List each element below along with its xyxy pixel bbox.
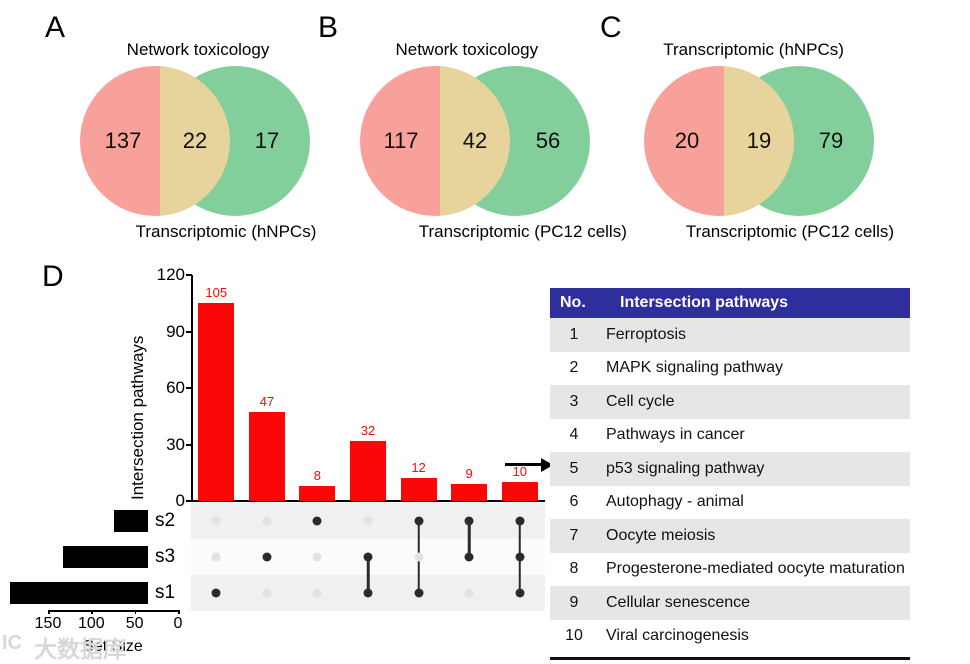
set-size-tick (91, 610, 93, 614)
bar[interactable] (198, 303, 234, 501)
table-cell-no: 8 (550, 560, 598, 578)
bar-value-label: 8 (314, 468, 321, 483)
venn-b-overlap-count: 42 (463, 128, 487, 154)
table-cell-no: 9 (550, 594, 598, 612)
set-size-bar-s2[interactable] (114, 510, 148, 532)
bar[interactable] (451, 484, 487, 501)
table-row[interactable]: 4Pathways in cancer (550, 419, 910, 453)
intersection-pathways-table: No. Intersection pathways 1Ferroptosis2M… (550, 288, 910, 660)
y-tick-label: 30 (130, 435, 185, 455)
set-size-tick (135, 610, 137, 614)
venn-a-overlap-count: 22 (183, 128, 207, 154)
table-body: 1Ferroptosis2MAPK signaling pathway3Cell… (550, 318, 910, 653)
venn-c-title-bottom: Transcriptomic (PC12 cells) (686, 222, 894, 242)
matrix-dot-s1-on[interactable] (364, 589, 373, 598)
table-cell-pathway: MAPK signaling pathway (598, 359, 910, 377)
table-row[interactable]: 7Oocyte meiosis (550, 519, 910, 553)
table-cell-pathway: Cellular senescence (598, 594, 910, 612)
set-size-axis-line (48, 610, 178, 612)
matrix-dot-s3-on[interactable] (515, 553, 524, 562)
set-size-axis-title: Set Size (83, 638, 143, 656)
bar[interactable] (350, 441, 386, 501)
table-row[interactable]: 1Ferroptosis (550, 318, 910, 352)
bar-value-label: 47 (260, 394, 274, 409)
set-size-bar-s3[interactable] (63, 546, 148, 568)
matrix-dot-s2-on[interactable] (465, 517, 474, 526)
venn-diagram-c: Transcriptomic (hNPCs) 20 19 79 Transcri… (622, 40, 902, 240)
bar-value-label: 12 (411, 460, 425, 475)
bar-value-label: 9 (466, 466, 473, 481)
venn-c-title-top: Transcriptomic (hNPCs) (663, 40, 844, 60)
venn-b-right-count: 56 (536, 128, 560, 154)
pointer-arrow-line (505, 463, 541, 466)
venn-c-left-count: 20 (675, 128, 699, 154)
set-size-tick-label: 150 (35, 615, 62, 633)
table-cell-no: 2 (550, 359, 598, 377)
bar-value-label: 10 (512, 464, 526, 479)
panel-letter-b: B (318, 13, 338, 43)
table-cell-pathway: p53 signaling pathway (598, 460, 910, 478)
matrix-dot-s3-on[interactable] (364, 553, 373, 562)
set-label-s2: s2 (155, 510, 175, 532)
matrix-dot-s1-on[interactable] (212, 589, 221, 598)
matrix-dot-s1-on[interactable] (414, 589, 423, 598)
set-size-tick (178, 610, 180, 614)
matrix-dot-s3-on[interactable] (465, 553, 474, 562)
venn-a-title-top: Network toxicology (127, 40, 270, 60)
table-cell-pathway: Cell cycle (598, 393, 910, 411)
table-cell-no: 5 (550, 460, 598, 478)
table-header-no: No. (550, 294, 608, 312)
set-size-bar-s1[interactable] (10, 582, 148, 604)
venn-diagram-b: Network toxicology 117 42 56 Transcripto… (338, 40, 618, 240)
upset-plot: Intersection pathways 0306090120 1054783… (0, 265, 560, 660)
table-cell-no: 4 (550, 426, 598, 444)
venn-c-overlap-count: 19 (747, 128, 771, 154)
panel-letter-c: C (600, 13, 622, 43)
table-cell-no: 7 (550, 527, 598, 545)
table-header-row: No. Intersection pathways (550, 288, 910, 318)
table-cell-pathway: Viral carcinogenesis (598, 627, 910, 645)
matrix-dot-s2-off[interactable] (364, 517, 373, 526)
matrix-dot-s3-on[interactable] (262, 553, 271, 562)
y-tick-label: 0 (130, 491, 185, 511)
venn-a-right-count: 17 (255, 128, 279, 154)
table-cell-pathway: Oocyte meiosis (598, 527, 910, 545)
venn-a-title-bottom: Transcriptomic (hNPCs) (136, 222, 317, 242)
matrix-dot-s3-off[interactable] (313, 553, 322, 562)
y-tick-label: 60 (130, 378, 185, 398)
venn-a-left-count: 137 (105, 128, 142, 154)
table-cell-no: 3 (550, 393, 598, 411)
matrix-dot-s1-on[interactable] (515, 589, 524, 598)
matrix-dot-s2-off[interactable] (262, 517, 271, 526)
table-cell-no: 6 (550, 493, 598, 511)
matrix-dot-s1-off[interactable] (313, 589, 322, 598)
bar-series: 1054783212910 (191, 275, 545, 501)
set-label-s1: s1 (155, 582, 175, 604)
bar-value-label: 105 (205, 285, 227, 300)
set-label-s3: s3 (155, 546, 175, 568)
table-row[interactable]: 5p53 signaling pathway (550, 452, 910, 486)
table-cell-no: 10 (550, 627, 598, 645)
venn-b-left-count: 117 (383, 128, 418, 154)
table-cell-pathway: Pathways in cancer (598, 426, 910, 444)
venn-b-title-top: Network toxicology (395, 40, 538, 60)
table-cell-pathway: Autophagy - animal (598, 493, 910, 511)
table-row[interactable]: 10Viral carcinogenesis (550, 620, 910, 654)
table-row[interactable]: 8Progesterone-mediated oocyte maturation (550, 553, 910, 587)
bar[interactable] (502, 482, 538, 501)
table-row[interactable]: 6Autophagy - animal (550, 486, 910, 520)
set-size-tick-label: 0 (174, 615, 183, 633)
venn-b-title-bottom: Transcriptomic (PC12 cells) (419, 222, 627, 242)
set-size-tick (48, 610, 50, 614)
matrix-dot-s2-on[interactable] (414, 517, 423, 526)
y-axis-label: Intersection pathways (128, 336, 148, 500)
matrix-dot-s1-off[interactable] (465, 589, 474, 598)
venn-diagram-a: Network toxicology 137 22 17 Transcripto… (58, 40, 338, 240)
venn-c-right-count: 79 (819, 128, 843, 154)
table-cell-no: 1 (550, 326, 598, 344)
table-row[interactable]: 2MAPK signaling pathway (550, 352, 910, 386)
bar[interactable] (249, 412, 285, 501)
intersection-matrix (191, 503, 545, 611)
matrix-dot-s3-off[interactable] (414, 553, 423, 562)
set-size-tick-label: 100 (78, 615, 105, 633)
table-cell-pathway: Ferroptosis (598, 326, 910, 344)
matrix-dot-s2-off[interactable] (212, 517, 221, 526)
bar-value-label: 32 (361, 423, 375, 438)
table-cell-pathway: Progesterone-mediated oocyte maturation (598, 560, 910, 578)
set-size-tick-label: 50 (126, 615, 144, 633)
bar[interactable] (299, 486, 335, 501)
matrix-dot-s3-off[interactable] (212, 553, 221, 562)
matrix-dot-s1-off[interactable] (262, 589, 271, 598)
y-tick-label: 120 (130, 265, 185, 285)
y-tick-label: 90 (130, 322, 185, 342)
table-row[interactable]: 3Cell cycle (550, 385, 910, 419)
matrix-dot-s2-on[interactable] (515, 517, 524, 526)
table-row[interactable]: 9Cellular senescence (550, 586, 910, 620)
matrix-dot-s2-on[interactable] (313, 517, 322, 526)
panel-letter-a: A (45, 13, 65, 43)
table-header-pathway: Intersection pathways (608, 294, 910, 312)
bar[interactable] (401, 478, 437, 501)
